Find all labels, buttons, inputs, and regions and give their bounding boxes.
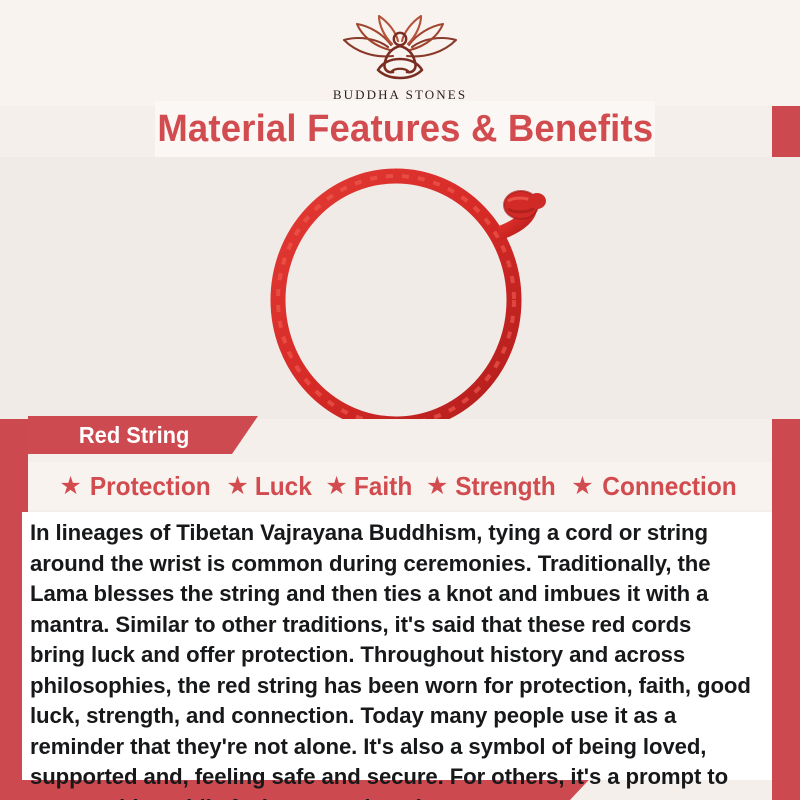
page-title: Material Features & Benefits	[157, 108, 653, 151]
star-icon: ★	[59, 474, 81, 499]
star-icon: ★	[426, 474, 448, 499]
material-name-label: Red String	[79, 422, 189, 449]
feature-item-connection: ★ Connection	[571, 471, 740, 502]
feature-item-faith: ★ Faith	[325, 471, 414, 502]
feature-label: Strength	[456, 471, 556, 502]
feature-label: Protection	[90, 471, 211, 502]
material-name-ribbon: Red String	[28, 416, 258, 454]
feature-list: ★ Protection ★ Luck ★ Faith ★ Strength ★…	[28, 462, 772, 510]
description-text: In lineages of Tibetan Vajrayana Buddhis…	[30, 518, 751, 800]
star-icon: ★	[325, 474, 347, 499]
feature-item-luck: ★ Luck	[226, 471, 313, 502]
product-image-area	[0, 157, 800, 419]
brand-logo: BUDDHA STONES	[0, 14, 800, 103]
feature-label: Luck	[255, 471, 312, 502]
header: BUDDHA STONES	[0, 0, 800, 106]
feature-item-protection: ★ Protection	[59, 471, 214, 502]
infographic-page: BUDDHA STONES Material Features & Benefi…	[0, 0, 800, 800]
lotus-meditation-icon	[330, 14, 470, 85]
feature-item-strength: ★ Strength	[426, 471, 559, 502]
star-icon: ★	[571, 474, 593, 499]
title-panel: Material Features & Benefits	[155, 101, 655, 157]
feature-label: Faith	[354, 471, 412, 502]
description-panel: In lineages of Tibetan Vajrayana Buddhis…	[22, 512, 772, 780]
red-braided-string-bracelet-image	[0, 157, 800, 419]
feature-label: Connection	[602, 471, 736, 502]
star-icon: ★	[226, 474, 248, 499]
